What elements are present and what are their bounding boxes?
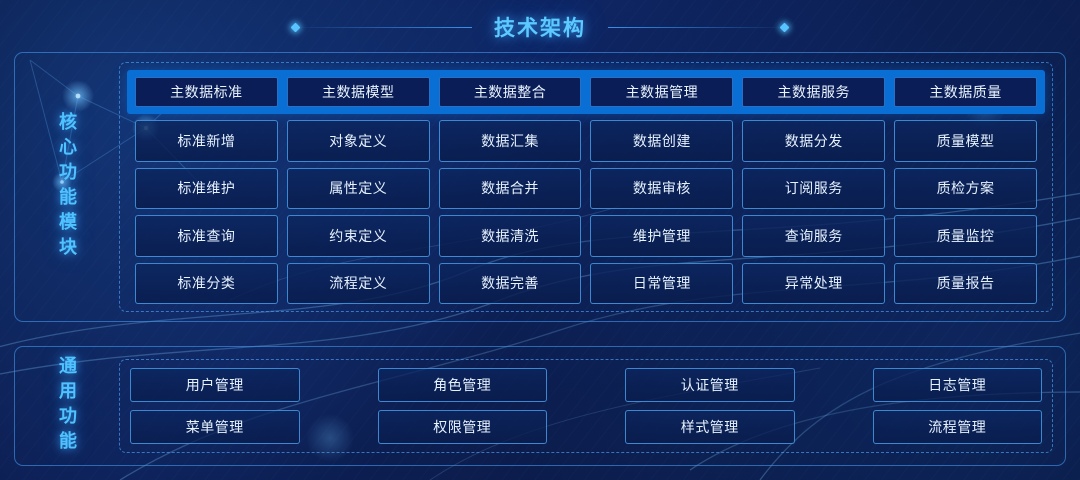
- core-cell[interactable]: 数据创建: [590, 120, 733, 162]
- core-header-cell-5[interactable]: 主数据服务: [742, 77, 885, 107]
- title-rule-left: [292, 27, 472, 28]
- core-cell[interactable]: 标准新增: [135, 120, 278, 162]
- core-header-cell-6[interactable]: 主数据质量: [894, 77, 1037, 107]
- core-cell[interactable]: 维护管理: [590, 215, 733, 257]
- section-label-core: 核心功能模块: [15, 53, 119, 321]
- core-row: 标准查询 约束定义 数据清洗 维护管理 查询服务 质量监控: [127, 215, 1045, 257]
- title-rule-right: [608, 27, 788, 28]
- core-cell[interactable]: 数据汇集: [439, 120, 582, 162]
- general-cell[interactable]: 认证管理: [625, 368, 795, 402]
- core-header-cell-3[interactable]: 主数据整合: [439, 77, 582, 107]
- core-cell[interactable]: 日常管理: [590, 263, 733, 305]
- core-row: 标准分类 流程定义 数据完善 日常管理 异常处理 质量报告: [127, 263, 1045, 305]
- core-cell[interactable]: 数据审核: [590, 168, 733, 210]
- section-label-core-text: 核心功能模块: [58, 112, 76, 262]
- core-cell[interactable]: 异常处理: [742, 263, 885, 305]
- core-cell[interactable]: 标准分类: [135, 263, 278, 305]
- general-cell[interactable]: 权限管理: [378, 410, 548, 444]
- general-cell[interactable]: 流程管理: [873, 410, 1043, 444]
- core-cell[interactable]: 标准维护: [135, 168, 278, 210]
- core-grid: 主数据标准 主数据模型 主数据整合 主数据管理 主数据服务 主数据质量 标准新增…: [127, 70, 1045, 304]
- core-cell[interactable]: 对象定义: [287, 120, 430, 162]
- general-cell[interactable]: 菜单管理: [130, 410, 300, 444]
- general-cell[interactable]: 日志管理: [873, 368, 1043, 402]
- core-cell[interactable]: 标准查询: [135, 215, 278, 257]
- core-header-band: 主数据标准 主数据模型 主数据整合 主数据管理 主数据服务 主数据质量: [127, 70, 1045, 114]
- core-cell[interactable]: 流程定义: [287, 263, 430, 305]
- core-cell[interactable]: 质量监控: [894, 215, 1037, 257]
- section-core-function-modules: 核心功能模块 主数据标准 主数据模型 主数据整合 主数据管理 主数据服务 主数据…: [14, 52, 1066, 322]
- core-cell[interactable]: 订阅服务: [742, 168, 885, 210]
- core-header-cell-1[interactable]: 主数据标准: [135, 77, 278, 107]
- section-label-general-text: 通用功能: [58, 356, 76, 456]
- general-cell[interactable]: 样式管理: [625, 410, 795, 444]
- core-cell[interactable]: 约束定义: [287, 215, 430, 257]
- core-header-cell-4[interactable]: 主数据管理: [590, 77, 733, 107]
- core-cell[interactable]: 质检方案: [894, 168, 1037, 210]
- general-grid: 用户管理 角色管理 认证管理 日志管理 菜单管理 权限管理 样式管理 流程管理: [130, 368, 1042, 444]
- core-header-cell-2[interactable]: 主数据模型: [287, 77, 430, 107]
- core-cell[interactable]: 质量模型: [894, 120, 1037, 162]
- section-general-inner-frame: 用户管理 角色管理 认证管理 日志管理 菜单管理 权限管理 样式管理 流程管理: [119, 359, 1053, 453]
- core-cell[interactable]: 数据分发: [742, 120, 885, 162]
- diagram-title-row: 技术架构: [0, 8, 1080, 46]
- section-general-functions: 通用功能 用户管理 角色管理 认证管理 日志管理 菜单管理 权限管理 样式管理 …: [14, 346, 1066, 466]
- core-cell[interactable]: 数据合并: [439, 168, 582, 210]
- core-row: 标准维护 属性定义 数据合并 数据审核 订阅服务 质检方案: [127, 168, 1045, 210]
- general-cell[interactable]: 用户管理: [130, 368, 300, 402]
- diamond-node-icon: [780, 22, 790, 32]
- diamond-node-icon: [291, 22, 301, 32]
- core-cell[interactable]: 数据完善: [439, 263, 582, 305]
- section-core-inner-frame: 主数据标准 主数据模型 主数据整合 主数据管理 主数据服务 主数据质量 标准新增…: [119, 62, 1053, 312]
- core-cell[interactable]: 属性定义: [287, 168, 430, 210]
- core-cell[interactable]: 质量报告: [894, 263, 1037, 305]
- section-label-general: 通用功能: [15, 347, 119, 465]
- page-title: 技术架构: [472, 12, 608, 42]
- core-cell[interactable]: 查询服务: [742, 215, 885, 257]
- general-cell[interactable]: 角色管理: [378, 368, 548, 402]
- core-cell[interactable]: 数据清洗: [439, 215, 582, 257]
- core-row: 标准新增 对象定义 数据汇集 数据创建 数据分发 质量模型: [127, 120, 1045, 162]
